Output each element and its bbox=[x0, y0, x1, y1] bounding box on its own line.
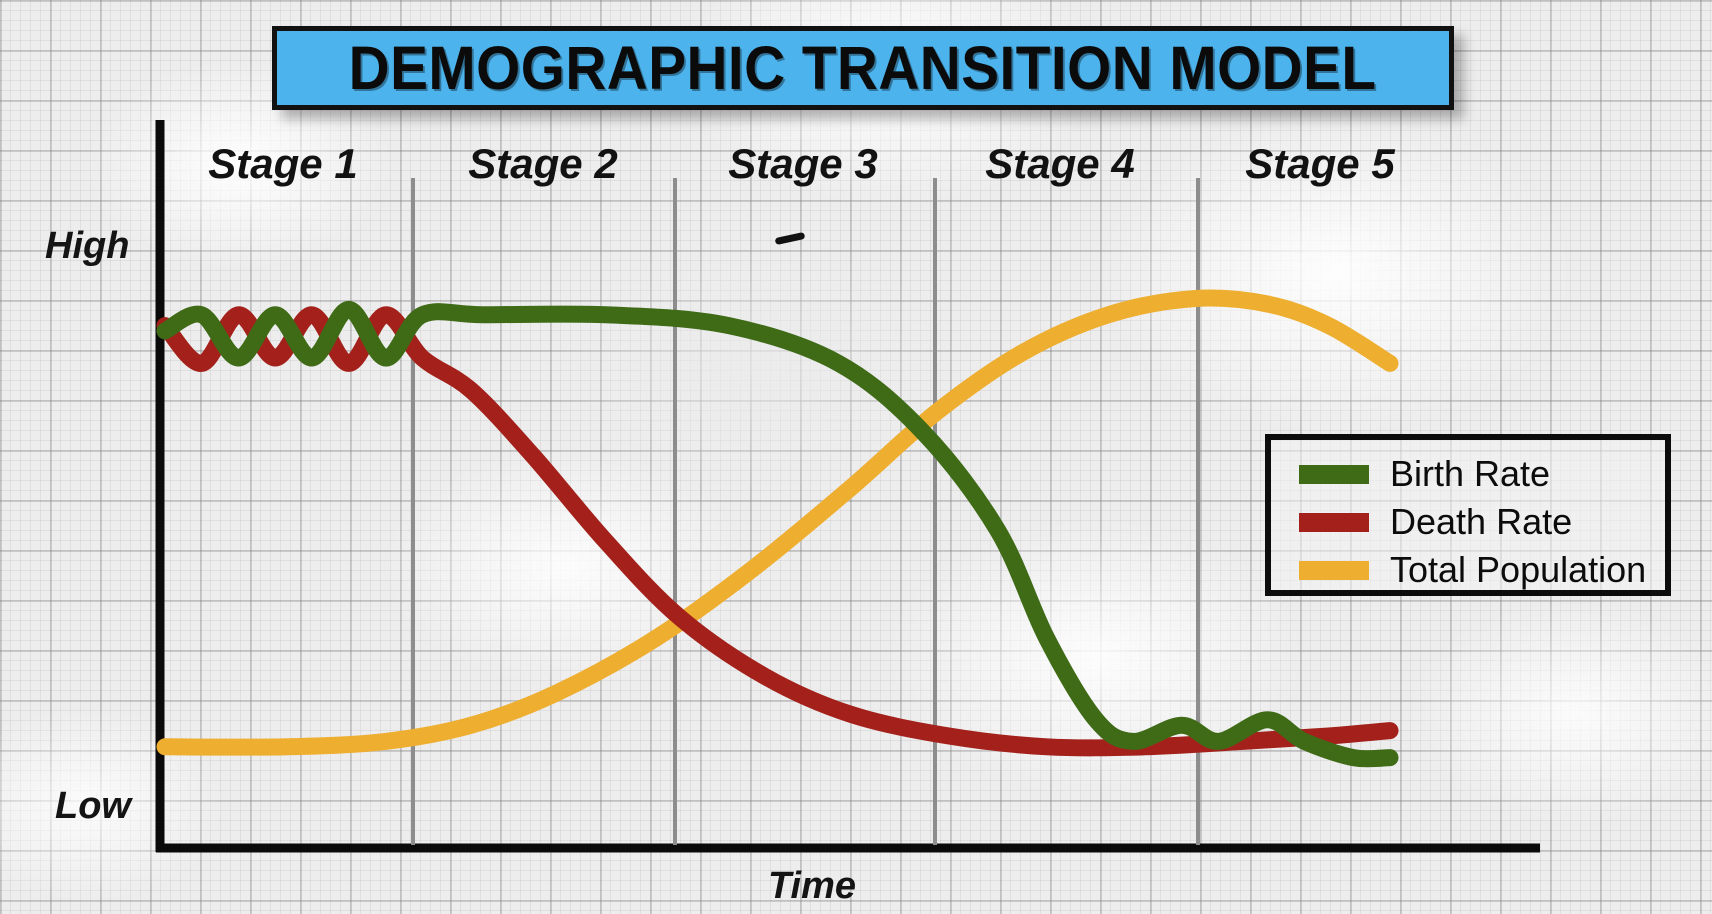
legend-label-death-rate: Death Rate bbox=[1390, 501, 1572, 543]
stage-label-3: Stage 3 bbox=[728, 140, 877, 187]
legend-label-birth-rate: Birth Rate bbox=[1390, 453, 1550, 495]
y-axis-low-label: Low bbox=[55, 785, 133, 827]
x-axis-label: Time bbox=[768, 865, 856, 907]
legend-swatch-death-rate bbox=[1299, 513, 1369, 532]
stage-label-1: Stage 1 bbox=[208, 140, 357, 187]
stage-label-2: Stage 2 bbox=[468, 140, 617, 187]
legend-swatch-total-population bbox=[1299, 561, 1369, 580]
legend-item-birth-rate[interactable]: Birth Rate bbox=[1299, 450, 1665, 498]
stage-label-5: Stage 5 bbox=[1245, 140, 1395, 187]
legend-swatch-birth-rate bbox=[1299, 465, 1369, 484]
legend-item-total-population[interactable]: Total Population bbox=[1299, 546, 1665, 594]
chart-canvas: DEMOGRAPHIC TRANSITION MODEL Stage 1 Sta… bbox=[0, 0, 1712, 914]
stage-label-4: Stage 4 bbox=[985, 140, 1134, 187]
legend-item-death-rate[interactable]: Death Rate bbox=[1299, 498, 1665, 546]
legend-label-total-population: Total Population bbox=[1390, 549, 1646, 591]
y-axis-high-label: High bbox=[45, 225, 129, 267]
series-line-death-rate bbox=[165, 315, 1390, 748]
chart-legend: Birth Rate Death Rate Total Population bbox=[1265, 434, 1671, 596]
